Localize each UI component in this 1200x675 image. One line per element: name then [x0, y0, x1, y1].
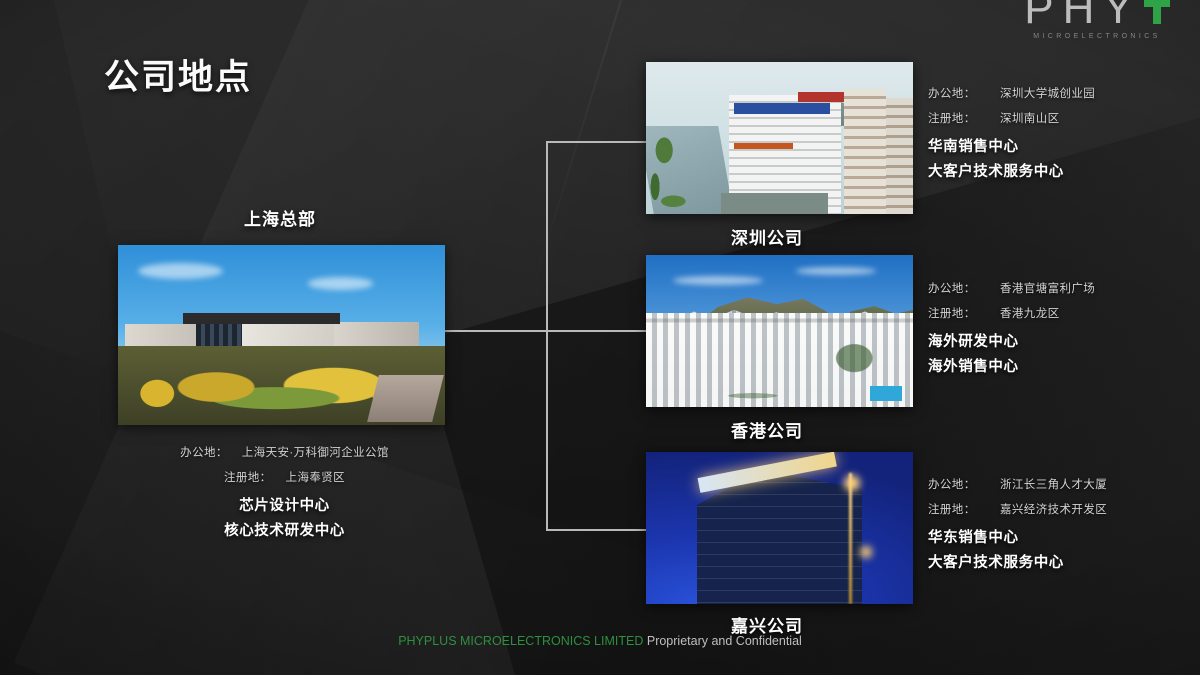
plus-icon [1144, 0, 1170, 24]
role-secondary: 海外销售中心 [928, 355, 1095, 376]
cloud [138, 263, 223, 279]
slide-footer: PHYPLUS MICROELECTRONICS LIMITED Proprie… [0, 634, 1200, 648]
logo-subtitle: MICROELECTRONICS [1012, 33, 1182, 40]
footer-company: PHYPLUS MICROELECTRONICS LIMITED [398, 634, 643, 648]
info-jiaxing: 办公地： 浙江长三角人才大厦 注册地： 嘉兴经济技术开发区 华东销售中心 大客户… [928, 476, 1107, 572]
building-signage-secondary [798, 92, 846, 101]
registered-row: 注册地： 嘉兴经济技术开发区 [928, 501, 1107, 517]
banner [734, 143, 793, 149]
registered-row: 注册地： 香港九龙区 [928, 305, 1095, 321]
roof-light [844, 475, 860, 491]
footer-confidential: Proprietary and Confidential [647, 634, 802, 648]
role-secondary: 大客户技术服务中心 [928, 551, 1107, 572]
caption-hongkong: 香港公司 [731, 417, 803, 442]
cloud [308, 277, 373, 290]
info-hongkong: 办公地： 香港官塘富利广场 注册地： 香港九龙区 海外研发中心 海外销售中心 [928, 280, 1095, 376]
office-value: 上海天安·万科御河企业公馆 [242, 444, 389, 460]
role-primary: 华东销售中心 [928, 526, 1107, 547]
connector-branch-hongkong [444, 330, 650, 332]
office-row: 办公地： 深圳大学城创业园 [928, 85, 1095, 101]
cloud [796, 267, 876, 275]
registered-label: 注册地： [928, 110, 986, 126]
logo-wordmark: PHY [1012, 0, 1182, 32]
office-row: 办公地： 香港官塘富利广场 [928, 280, 1095, 296]
role-secondary: 核心技术研发中心 [152, 519, 417, 540]
residential-tower [844, 89, 887, 214]
role-primary: 芯片设计中心 [152, 494, 417, 515]
info-shenzhen: 办公地： 深圳大学城创业园 注册地： 深圳南山区 华南销售中心 大客户技术服务中… [928, 85, 1095, 181]
podium [721, 193, 828, 214]
roof-structures [183, 313, 340, 324]
building-signage [734, 103, 830, 114]
office-row: 办公地： 浙江长三角人才大厦 [928, 476, 1107, 492]
info-shanghai: 办公地： 上海天安·万科御河企业公馆 注册地： 上海奉贤区 芯片设计中心 核心技… [152, 444, 417, 540]
page-title: 公司地点 [104, 49, 252, 100]
caption-shenzhen: 深圳公司 [731, 224, 803, 249]
residential-tower-far [886, 98, 913, 214]
office-value: 香港官塘富利广场 [1000, 280, 1095, 296]
connector-branch-shenzhen [546, 141, 648, 143]
tower-lit-edge [849, 473, 852, 604]
swimming-pool [870, 386, 902, 401]
office-label: 办公地： [180, 444, 228, 460]
registered-value: 深圳南山区 [1000, 110, 1060, 126]
photo-hongkong [646, 255, 913, 407]
registered-row: 注册地： 上海奉贤区 [152, 469, 417, 485]
office-label: 办公地： [928, 85, 986, 101]
office-row: 办公地： 上海天安·万科御河企业公馆 [152, 444, 417, 460]
brand-logo: PHY MICROELECTRONICS [1012, 0, 1182, 40]
registered-row: 注册地： 深圳南山区 [928, 110, 1095, 126]
photo-jiaxing [646, 452, 913, 604]
slide-canvas: PHY MICROELECTRONICS 公司地点 [0, 0, 1200, 675]
office-label: 办公地： [928, 280, 986, 296]
registered-value: 香港九龙区 [1000, 305, 1060, 321]
logo-text: PHY [1024, 0, 1141, 32]
registered-value: 嘉兴经济技术开发区 [1000, 501, 1107, 517]
caption-shanghai: 上海总部 [244, 205, 316, 230]
office-value: 浙江长三角人才大厦 [1000, 476, 1107, 492]
registered-value: 上海奉贤区 [286, 469, 346, 485]
role-primary: 海外研发中心 [928, 330, 1095, 351]
role-primary: 华南销售中心 [928, 135, 1095, 156]
photo-shenzhen [646, 62, 913, 214]
registered-label: 注册地： [928, 501, 986, 517]
registered-label: 注册地： [928, 305, 986, 321]
office-value: 深圳大学城创业园 [1000, 85, 1095, 101]
facade-light [860, 546, 872, 558]
office-label: 办公地： [928, 476, 986, 492]
registered-label: 注册地： [224, 469, 272, 485]
photo-shanghai [118, 245, 445, 425]
role-secondary: 大客户技术服务中心 [928, 160, 1095, 181]
connector-vertical [546, 141, 548, 531]
connector-branch-jiaxing [546, 529, 648, 531]
walkway [367, 375, 444, 422]
